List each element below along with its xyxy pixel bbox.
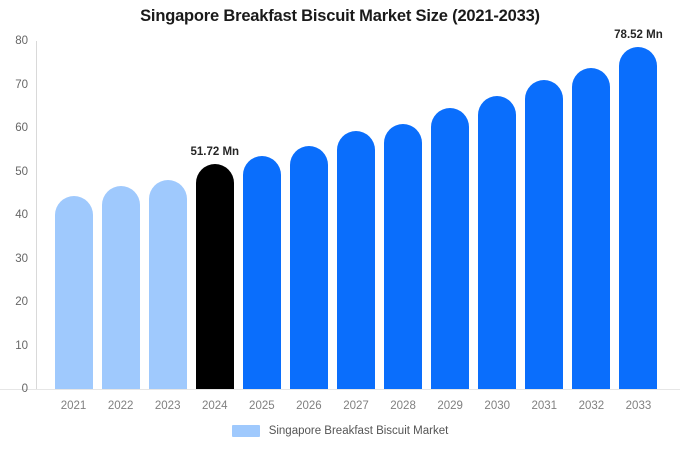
- bar-column[interactable]: 78.52 Mn: [619, 41, 657, 389]
- bar-column[interactable]: 51.72 Mn: [196, 41, 234, 389]
- legend-swatch: [232, 425, 260, 437]
- bar[interactable]: [337, 131, 375, 389]
- y-axis-tick-label: 20: [15, 296, 28, 308]
- bar-column[interactable]: [55, 41, 93, 389]
- y-axis-tick-label: 50: [15, 166, 28, 178]
- x-axis-tick-label: 2028: [384, 400, 422, 412]
- bar-column[interactable]: [478, 41, 516, 389]
- x-axis-line: [0, 389, 680, 390]
- y-axis-tick-label: 70: [15, 79, 28, 91]
- x-axis-tick-label: 2021: [55, 400, 93, 412]
- bar[interactable]: [619, 47, 657, 389]
- x-axis-tick-label: 2029: [431, 400, 469, 412]
- x-axis-tick-label: 2025: [243, 400, 281, 412]
- bar-column[interactable]: [337, 41, 375, 389]
- bar-value-label: 51.72 Mn: [190, 146, 239, 158]
- bar[interactable]: [149, 180, 187, 389]
- bar-column[interactable]: [149, 41, 187, 389]
- bar[interactable]: [196, 164, 234, 389]
- bar-column[interactable]: [384, 41, 422, 389]
- x-axis-tick-label: 2031: [525, 400, 563, 412]
- bar[interactable]: [290, 146, 328, 389]
- y-axis-tick-label: 40: [15, 209, 28, 221]
- bar[interactable]: [384, 124, 422, 389]
- bar-value-label: 78.52 Mn: [614, 29, 663, 41]
- bar[interactable]: [478, 96, 516, 389]
- x-axis-tick-label: 2023: [149, 400, 187, 412]
- bar-column[interactable]: [102, 41, 140, 389]
- y-axis-tick-label: 30: [15, 253, 28, 265]
- x-axis-tick-label: 2024: [196, 400, 234, 412]
- bar-column[interactable]: [243, 41, 281, 389]
- x-axis-tick-label: 2033: [619, 400, 657, 412]
- x-axis-tick-label: 2032: [572, 400, 610, 412]
- bar-series: 51.72 Mn78.52 Mn: [36, 41, 676, 389]
- y-axis-tick-label: 0: [22, 383, 28, 395]
- bar[interactable]: [572, 68, 610, 389]
- bar[interactable]: [525, 80, 563, 389]
- chart-container: Singapore Breakfast Biscuit Market Size …: [0, 0, 680, 450]
- legend-item-label: Singapore Breakfast Biscuit Market: [269, 425, 449, 437]
- bar-column[interactable]: [290, 41, 328, 389]
- chart-legend: Singapore Breakfast Biscuit Market: [0, 425, 680, 437]
- bar[interactable]: [102, 186, 140, 389]
- plot-area: 51.72 Mn78.52 Mn 01020304050607080 20212…: [36, 41, 676, 389]
- bar[interactable]: [431, 108, 469, 389]
- x-axis-tick-label: 2026: [290, 400, 328, 412]
- bar-column[interactable]: [431, 41, 469, 389]
- y-axis-tick-label: 80: [15, 35, 28, 47]
- chart-title: Singapore Breakfast Biscuit Market Size …: [0, 7, 680, 26]
- y-axis-tick-label: 10: [15, 340, 28, 352]
- bar[interactable]: [55, 196, 93, 389]
- x-axis-tick-label: 2030: [478, 400, 516, 412]
- x-axis-tick-label: 2022: [102, 400, 140, 412]
- x-axis-tick-label: 2027: [337, 400, 375, 412]
- bar-column[interactable]: [525, 41, 563, 389]
- bar-column[interactable]: [572, 41, 610, 389]
- bar[interactable]: [243, 156, 281, 389]
- y-axis-tick-label: 60: [15, 122, 28, 134]
